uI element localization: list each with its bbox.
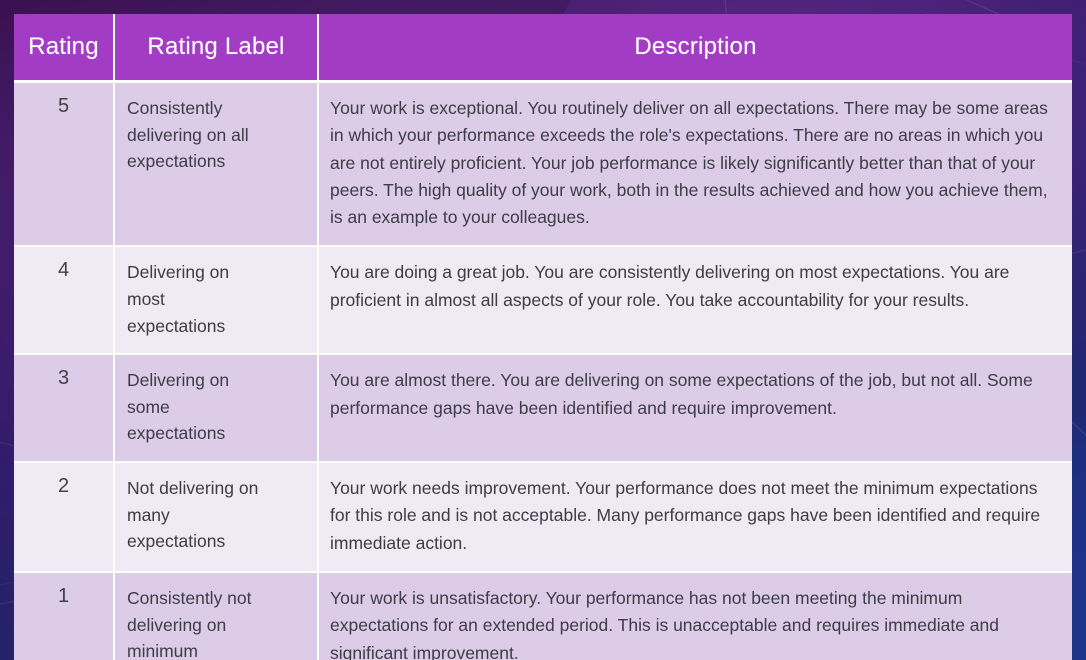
cell-rating-label: Delivering on most expectations [115, 247, 319, 355]
cell-rating: 5 [14, 83, 115, 247]
cell-rating-label: Consistently not delivering on minimum e… [115, 573, 319, 660]
column-header-rating: Rating [14, 14, 115, 83]
cell-rating: 1 [14, 573, 115, 660]
table-row: 3 Delivering on some expectations You ar… [14, 355, 1072, 463]
cell-rating-label: Consistently delivering on all expectati… [115, 83, 319, 247]
cell-rating: 3 [14, 355, 115, 463]
cell-description: Your work needs improvement. Your perfor… [319, 463, 1072, 573]
table-row: 5 Consistently delivering on all expecta… [14, 83, 1072, 247]
slide-canvas: Rating Rating Label Description 5 Consis… [0, 0, 1086, 660]
column-header-rating-label: Rating Label [115, 14, 319, 83]
cell-rating-label: Delivering on some expectations [115, 355, 319, 463]
cell-rating-label: Not delivering on many expectations [115, 463, 319, 573]
cell-description: You are doing a great job. You are consi… [319, 247, 1072, 355]
cell-rating: 4 [14, 247, 115, 355]
table-row: 1 Consistently not delivering on minimum… [14, 573, 1072, 660]
table-header: Rating Rating Label Description [14, 14, 1072, 83]
table-row: 2 Not delivering on many expectations Yo… [14, 463, 1072, 573]
cell-description: Your work is unsatisfactory. Your perfor… [319, 573, 1072, 660]
table-body: 5 Consistently delivering on all expecta… [14, 83, 1072, 660]
cell-description: Your work is exceptional. You routinely … [319, 83, 1072, 247]
column-header-description: Description [319, 14, 1072, 83]
cell-rating: 2 [14, 463, 115, 573]
table-header-row: Rating Rating Label Description [14, 14, 1072, 83]
table-row: 4 Delivering on most expectations You ar… [14, 247, 1072, 355]
performance-rating-table: Rating Rating Label Description 5 Consis… [14, 14, 1072, 660]
cell-description: You are almost there. You are delivering… [319, 355, 1072, 463]
